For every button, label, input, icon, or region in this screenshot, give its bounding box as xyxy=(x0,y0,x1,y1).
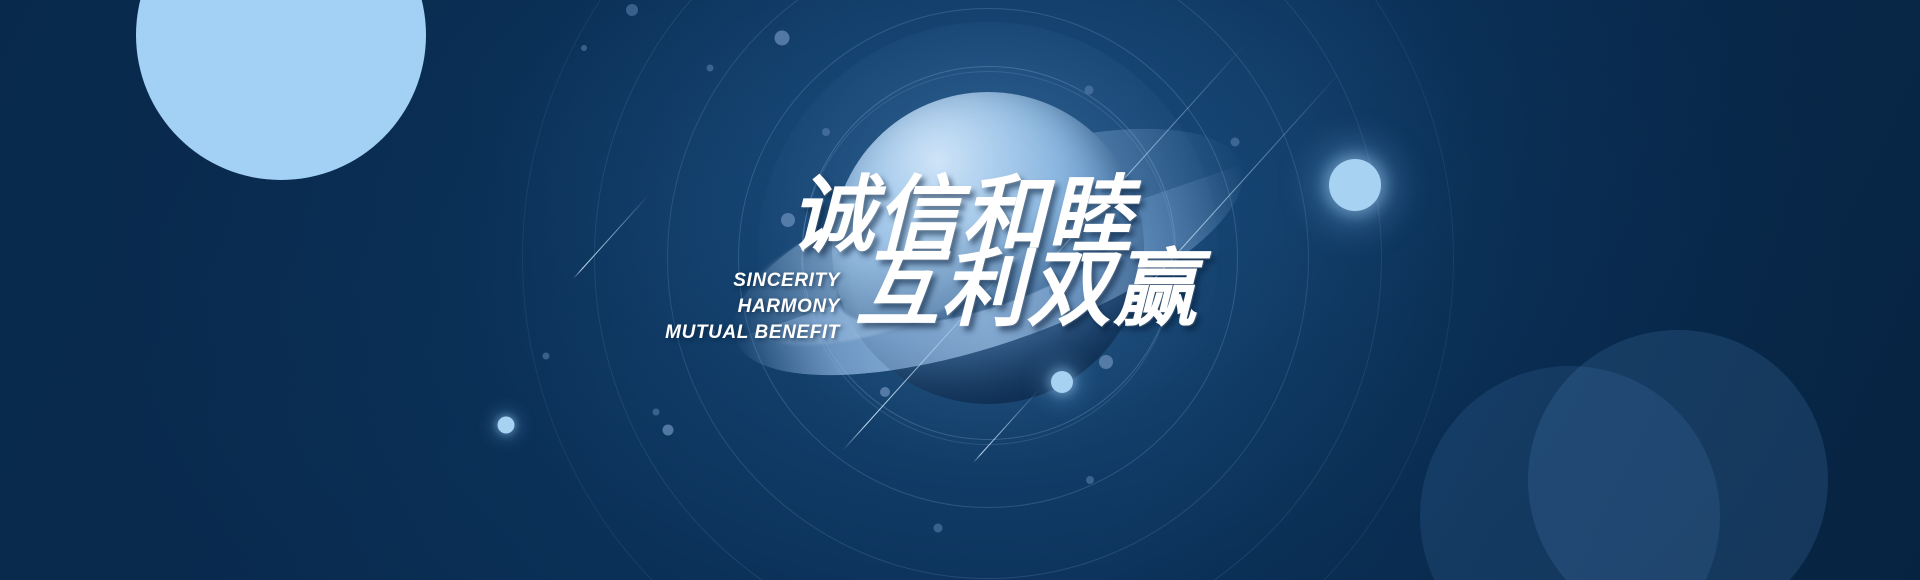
orbit-dot xyxy=(626,4,638,16)
orbit-dot xyxy=(709,329,715,335)
orbit-dot xyxy=(1231,138,1240,147)
orbit-dot xyxy=(775,31,790,46)
orbit-dot xyxy=(1085,86,1094,95)
orbit-dot xyxy=(543,353,550,360)
orbit-dot xyxy=(1049,288,1057,296)
orbit-dot xyxy=(707,65,714,72)
orbit-dot xyxy=(934,524,943,533)
glowing-orb xyxy=(1329,159,1381,211)
glowing-orb xyxy=(1051,371,1073,393)
orbit-dot xyxy=(653,409,660,416)
orbit-dot xyxy=(822,128,830,136)
orbit-dot xyxy=(1099,355,1113,369)
glowing-orb xyxy=(498,417,515,434)
orbit-dot xyxy=(880,387,890,397)
orbit-dot xyxy=(581,45,587,51)
orbit-dot xyxy=(781,213,795,227)
banner-stage: 诚信和睦 互利双赢 SINCERITY HARMONY MUTUAL BENEF… xyxy=(0,0,1920,580)
orbit-dot xyxy=(1086,476,1094,484)
orbit-dot xyxy=(663,425,674,436)
